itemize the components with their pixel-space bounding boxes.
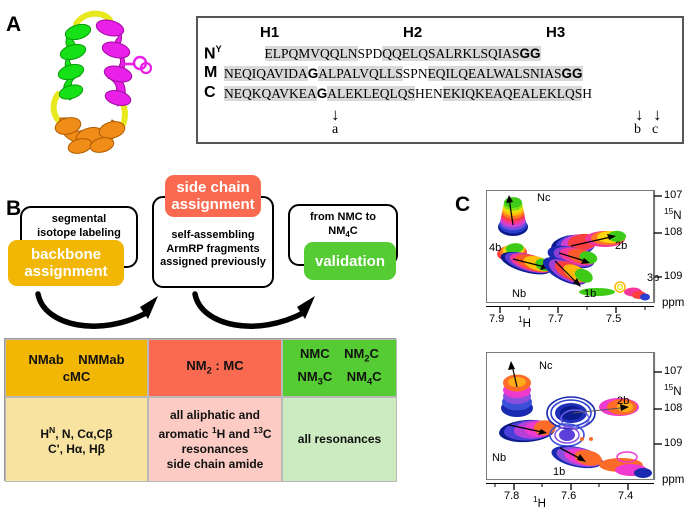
sequence-segment: ALEKLEQLQS — [327, 86, 415, 101]
pill-side-chain-assignment[interactable]: side chainassignment — [165, 175, 261, 217]
sequence-row-name-c: C — [204, 84, 216, 102]
sequence-segment: NEQIQAVIDA — [224, 66, 308, 81]
sequence-segment: GG — [520, 46, 541, 61]
ylabel-top: 15N — [664, 207, 682, 222]
peak-label-2b-bottom: 2b — [617, 395, 629, 407]
peak-label-nb-top: Nb — [512, 288, 526, 300]
ytick-107-top: 107 — [664, 189, 682, 201]
sequence-row-n: ELPQMVQQLNSPDQQELQSALRKLSQIASGG — [224, 46, 541, 62]
sequence-row-name-m: M — [204, 64, 217, 82]
cell-text: all aliphatic andaromatic 1H and 13Creso… — [158, 408, 271, 472]
helix-label-h3: H3 — [546, 24, 565, 41]
unit-label-top: ppm — [662, 297, 684, 309]
cell-text: NMC NM2CNM3C NM4C — [297, 345, 381, 390]
xtick-78-bottom: 7.8 — [504, 490, 519, 502]
sequence-segment — [224, 46, 265, 61]
panel-b-letter: B — [6, 198, 21, 219]
peak-label-nb-bottom: Nb — [492, 452, 506, 464]
flow-arrows — [20, 286, 400, 341]
sequence-row-name-n: NY — [204, 44, 222, 63]
box-text: self-assemblingArmRP fragmentsassigned p… — [160, 229, 266, 270]
protein-ribbon-icon — [18, 6, 183, 166]
table-body-cell: all resonances — [282, 397, 397, 482]
sequence-segment: QQELQSALRKLSQIAS — [382, 46, 519, 61]
cell-text: HN, N, Cα,CβC', Hα, Hβ — [40, 423, 112, 457]
sequence-segment: ALPALVQLLS — [318, 66, 403, 81]
xtick-76-bottom: 7.6 — [561, 490, 576, 502]
spectrum-top-x-axis — [486, 303, 654, 313]
ytick-109-bottom: 109 — [664, 437, 682, 449]
panel-c-letter: C — [455, 194, 470, 215]
peak-label-1b-bottom: 1b — [553, 466, 565, 478]
unit-label-bottom: ppm — [662, 474, 684, 486]
marker-arrow-a: ↓ — [331, 106, 340, 123]
xlabel-bottom: 1H — [533, 495, 546, 510]
table-body-cell: all aliphatic andaromatic 1H and 13Creso… — [148, 397, 282, 482]
peak-label-nc-bottom: Nc — [539, 360, 552, 372]
box-text: segmentalisotope labeling — [37, 213, 121, 240]
sequence-segment: GG — [562, 66, 583, 81]
sequence-segment: EQILQEALWALSNIAS — [428, 66, 562, 81]
ytick-108-top: 108 — [664, 226, 682, 238]
sequence-segment: H — [582, 86, 592, 101]
sequence-segment: NEQKQAVKEA — [224, 86, 317, 101]
cell-text: NM2 : MC — [186, 357, 243, 380]
pill-backbone-assignment[interactable]: backboneassignment — [8, 240, 124, 286]
xtick-77-top: 7.7 — [548, 313, 563, 325]
peak-label-1b-top: 1b — [584, 288, 596, 300]
marker-arrow-b: ↓ — [635, 106, 644, 123]
ylabel-bottom: 15N — [664, 383, 682, 398]
sequence-row-m: NEQIQAVIDAGALPALVQLLSSPNEQILQEALWALSNIAS… — [224, 66, 583, 82]
sequence-segment: SPD — [358, 46, 383, 61]
spectrum-bottom-x-axis — [486, 480, 654, 490]
spectrum-top-y-axis — [654, 190, 664, 303]
xtick-79-top: 7.9 — [489, 313, 504, 325]
box-text: from NMC toNM4C — [310, 211, 376, 241]
cell-text: all resonances — [298, 432, 381, 447]
helix-label-h2: H2 — [403, 24, 422, 41]
pill-label: validation — [315, 253, 385, 270]
xlabel-top: 1H — [518, 315, 531, 330]
marker-arrow-c: ↓ — [653, 106, 662, 123]
table-header-cell: NMC NM2CNM3C NM4C — [282, 339, 397, 397]
marker-label-b: b — [634, 122, 641, 138]
sequence-segment: SPN — [403, 66, 428, 81]
xtick-75-top: 7.5 — [606, 313, 621, 325]
summary-table: NMab NMMabcMCNM2 : MCNMC NM2CNM3C NM4CHN… — [4, 338, 396, 481]
sequence-segment: G — [308, 66, 319, 81]
cell-text: NMab NMMabcMC — [28, 351, 124, 385]
helix-label-h1: H1 — [260, 24, 279, 41]
peak-label-nc-top: Nc — [537, 192, 550, 204]
sequence-segment: EKIQKEAQEALEKLQS — [443, 86, 582, 101]
ytick-108-bottom: 108 — [664, 402, 682, 414]
marker-label-c: c — [652, 122, 658, 138]
pill-label: side chainassignment — [171, 179, 254, 213]
spectrum-bottom-plot[interactable] — [486, 352, 654, 480]
table-body-cell: HN, N, Cα,CβC', Hα, Hβ — [5, 397, 148, 482]
xtick-74-bottom: 7.4 — [618, 490, 633, 502]
table-header-cell: NM2 : MC — [148, 339, 282, 397]
table-header-cell: NMab NMMabcMC — [5, 339, 148, 397]
sequence-segment: ELPQMVQQLN — [265, 46, 358, 61]
ytick-109-top: 109 — [664, 270, 682, 282]
sequence-row-c: NEQKQAVKEAGALEKLEQLQSHENEKIQKEAQEALEKLQS… — [224, 86, 592, 102]
spectrum-top-plot[interactable] — [486, 190, 654, 303]
ytick-107-bottom: 107 — [664, 365, 682, 377]
spectrum-bottom-y-axis — [654, 352, 664, 480]
pill-validation[interactable]: validation — [304, 242, 396, 280]
peak-label-4b-top: 4b — [489, 242, 501, 254]
sequence-segment: HEN — [415, 86, 443, 101]
peak-label-2b-top: 2b — [615, 240, 627, 252]
pill-label: backboneassignment — [24, 246, 107, 280]
sequence-segment: G — [317, 86, 328, 101]
sequence-alignment-box: H1 H2 H3 NYMC ELPQMVQQLNSPDQQELQSALRKLSQ… — [196, 16, 684, 144]
marker-label-a: a — [332, 122, 338, 138]
